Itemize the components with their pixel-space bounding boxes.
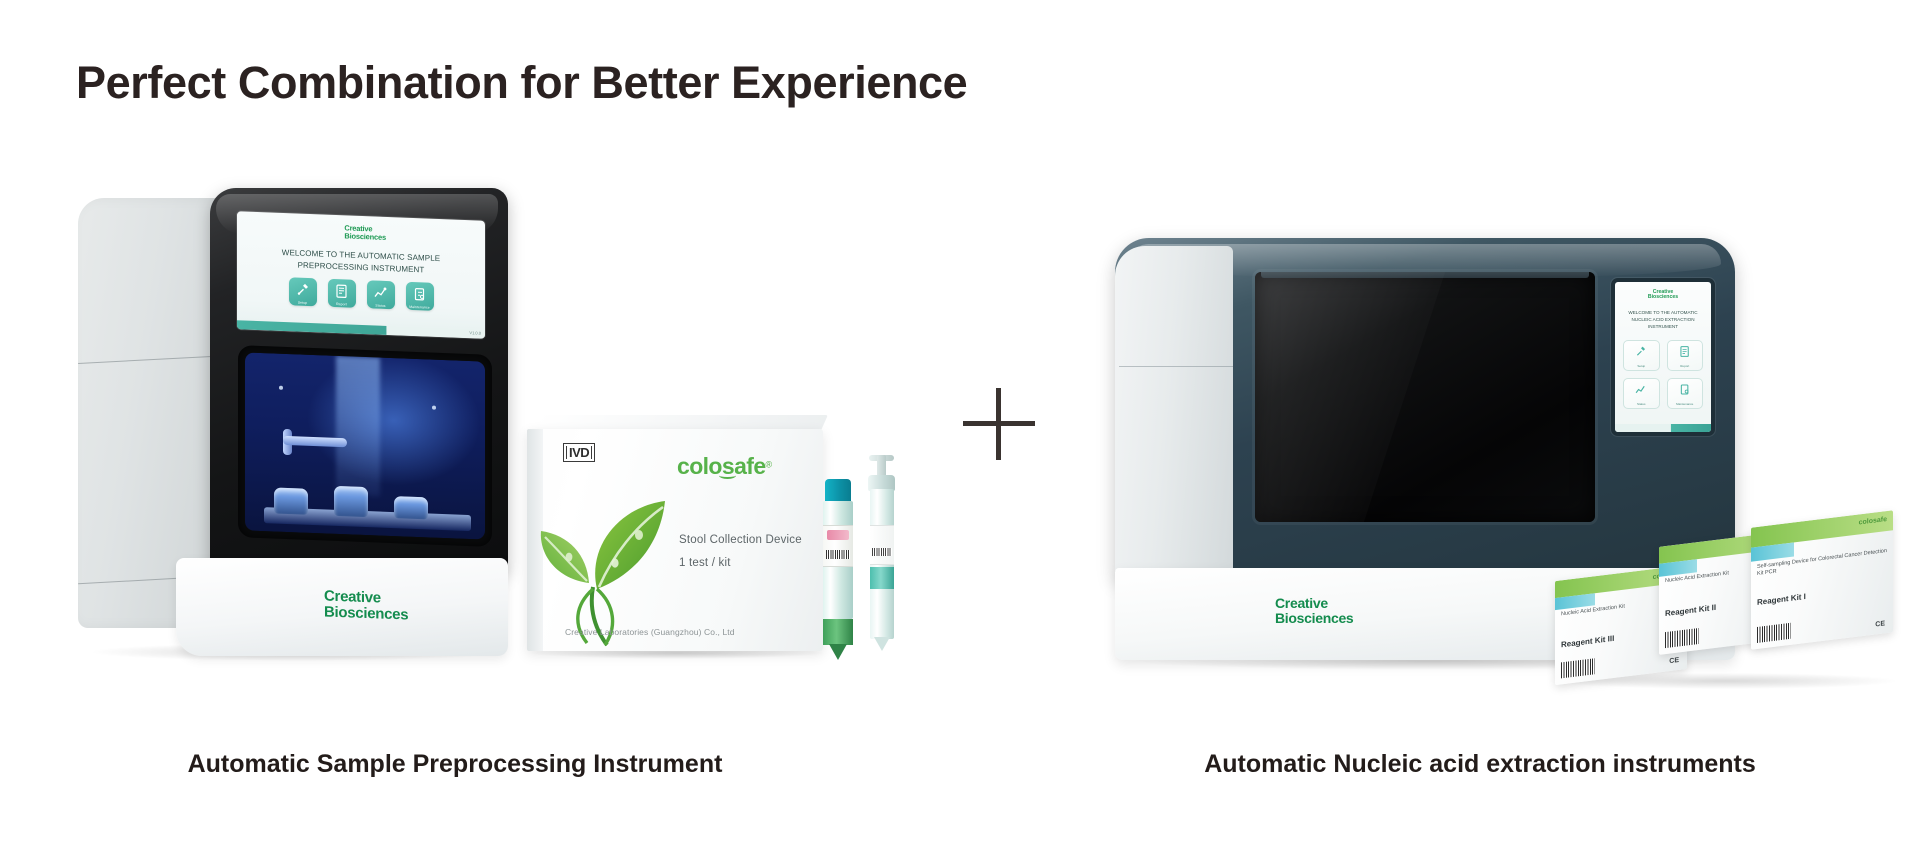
ivd-mark: IVD <box>563 443 595 462</box>
screen-brand-logo: Creative Biosciences <box>1648 290 1678 301</box>
tube-label <box>870 525 894 565</box>
screen-button-label: Setup <box>289 300 317 305</box>
screen-button-label: Status <box>1624 402 1659 406</box>
screen-button-label: Report <box>328 302 356 307</box>
reagent-box: colosafe Self-sampling Device for Colore… <box>1751 510 1893 649</box>
left-instrument-brand-logo: Creative Biosciences <box>324 589 408 623</box>
screen-button-label: Maintenance <box>1668 402 1703 406</box>
plus-icon <box>963 388 1035 460</box>
box-barcode <box>1665 628 1699 648</box>
reagent-box-name: Reagent Kit III <box>1561 634 1614 650</box>
screen-button-report[interactable]: Report <box>1667 340 1704 371</box>
page-title: Perfect Combination for Better Experienc… <box>76 57 967 109</box>
label-color-band <box>827 530 849 540</box>
brand-line-1: Creative <box>1275 596 1353 611</box>
screen-button-grid: Setup Report Status <box>1623 340 1703 409</box>
screen-button-row: Setup Report Status <box>237 275 485 313</box>
sample-vial <box>274 487 308 514</box>
screen-status-bar: V1.0.0 <box>237 320 485 339</box>
brand-line-2: Biosciences <box>324 604 408 623</box>
brand-line-2: Biosciences <box>1275 611 1353 626</box>
screen-button-label: Status <box>367 303 395 308</box>
screen-welcome-text: WELCOME TO THE AUTOMATIC SAMPLE PREPROCE… <box>237 245 485 278</box>
panel-seam <box>1119 366 1233 367</box>
tube-teal-section <box>870 567 894 589</box>
screen-button-label: Maintenance <box>406 305 434 310</box>
maintenance-icon <box>1678 383 1691 396</box>
brand-line-2: Biosciences <box>344 232 386 241</box>
tube-conical-tip <box>874 637 890 651</box>
screen-button-label: Report <box>1668 364 1703 368</box>
box-green-band <box>1751 510 1893 547</box>
document-icon <box>334 283 350 300</box>
label-barcode <box>826 550 850 559</box>
screen-button-setup[interactable]: Setup <box>289 277 317 306</box>
left-instrument-touchscreen[interactable]: Creative Biosciences WELCOME TO THE AUTO… <box>237 211 485 339</box>
chamber-interior <box>245 352 485 539</box>
tube-label <box>823 525 853 567</box>
kit-quantity: 1 test / kit <box>679 557 731 569</box>
screen-button-status[interactable]: Status <box>367 280 395 309</box>
plus-vertical-bar <box>996 388 1001 460</box>
collection-tube-plunger <box>865 455 899 655</box>
pipette-arm-horizontal <box>283 436 347 447</box>
screen-brand-logo: Creative Biosciences <box>344 224 386 241</box>
document-icon <box>1678 345 1691 358</box>
marketing-banner: Perfect Combination for Better Experienc… <box>0 0 1920 853</box>
tube-conical-tip <box>829 644 847 660</box>
tube-green-section <box>823 619 853 645</box>
smile-accent <box>719 472 736 479</box>
screen-version-label: V1.0.0 <box>469 330 481 335</box>
left-instrument-front-shell: Creative Biosciences WELCOME TO THE AUTO… <box>210 188 508 573</box>
right-instrument-touchscreen[interactable]: Creative Biosciences WELCOME TO THE AUTO… <box>1615 282 1711 432</box>
ce-mark: CE <box>1875 620 1885 628</box>
tube-cap <box>825 479 851 503</box>
brand-line-2: Biosciences <box>1648 295 1678 300</box>
right-product-caption: Automatic Nucleic acid extraction instru… <box>1080 750 1880 779</box>
collection-tube-green <box>823 479 853 659</box>
screen-status-bar <box>1615 424 1711 432</box>
sample-vial <box>394 496 428 519</box>
uv-light-beam <box>336 356 380 497</box>
reagent-box-name: Reagent Kit I <box>1757 592 1806 607</box>
box-barcode <box>1757 623 1791 643</box>
screen-button-report[interactable]: Report <box>328 279 356 308</box>
kit-product-name: Stool Collection Device <box>679 534 802 546</box>
status-icon <box>373 284 389 301</box>
status-icon <box>1635 383 1648 396</box>
plunger-rod <box>877 455 886 477</box>
box-barcode <box>1561 658 1595 678</box>
collection-tubes <box>815 455 930 660</box>
right-instrument-side-panel <box>1115 246 1233 576</box>
screen-welcome-text: WELCOME TO THE AUTOMATIC NUCLEIC ACID EX… <box>1619 310 1707 331</box>
glass-reflection <box>1255 272 1445 522</box>
screen-button-setup[interactable]: Setup <box>1623 340 1660 371</box>
left-instrument-image: Creative Biosciences WELCOME TO THE AUTO… <box>78 188 518 658</box>
left-product-caption: Automatic Sample Preprocessing Instrumen… <box>135 750 775 779</box>
colosafe-kit-box: IVD <box>527 415 837 660</box>
ce-mark: CE <box>1669 657 1679 665</box>
colosafe-brand-logo: colosafe® <box>677 453 772 480</box>
sample-vial <box>334 486 368 517</box>
light-speck <box>279 386 283 390</box>
reagent-kit-boxes: colosafe Nucleic Acid Extraction Kit Rea… <box>1555 515 1895 715</box>
light-speck <box>432 406 436 410</box>
reagent-box-name: Reagent Kit II <box>1665 602 1716 617</box>
tools-icon <box>1635 345 1648 358</box>
screen-button-label: Setup <box>1624 364 1659 368</box>
label-barcode <box>872 548 892 556</box>
screen-button-status[interactable]: Status <box>1623 378 1660 409</box>
extraction-chamber-window[interactable] <box>1255 272 1595 522</box>
tools-icon <box>295 281 311 298</box>
kit-manufacturer: Creative Laboratories (Guangzhou) Co., L… <box>565 627 735 637</box>
kit-box-front-face: IVD <box>527 429 823 651</box>
left-instrument-base: Creative Biosciences <box>176 558 508 656</box>
screen-button-maintenance[interactable]: Maintenance <box>1667 378 1704 409</box>
sample-chamber[interactable] <box>238 345 492 547</box>
registered-mark: ® <box>766 460 773 470</box>
right-instrument-brand-logo: Creative Biosciences <box>1275 596 1353 626</box>
screen-button-maintenance[interactable]: Maintenance <box>406 282 434 311</box>
maintenance-icon <box>412 286 428 303</box>
